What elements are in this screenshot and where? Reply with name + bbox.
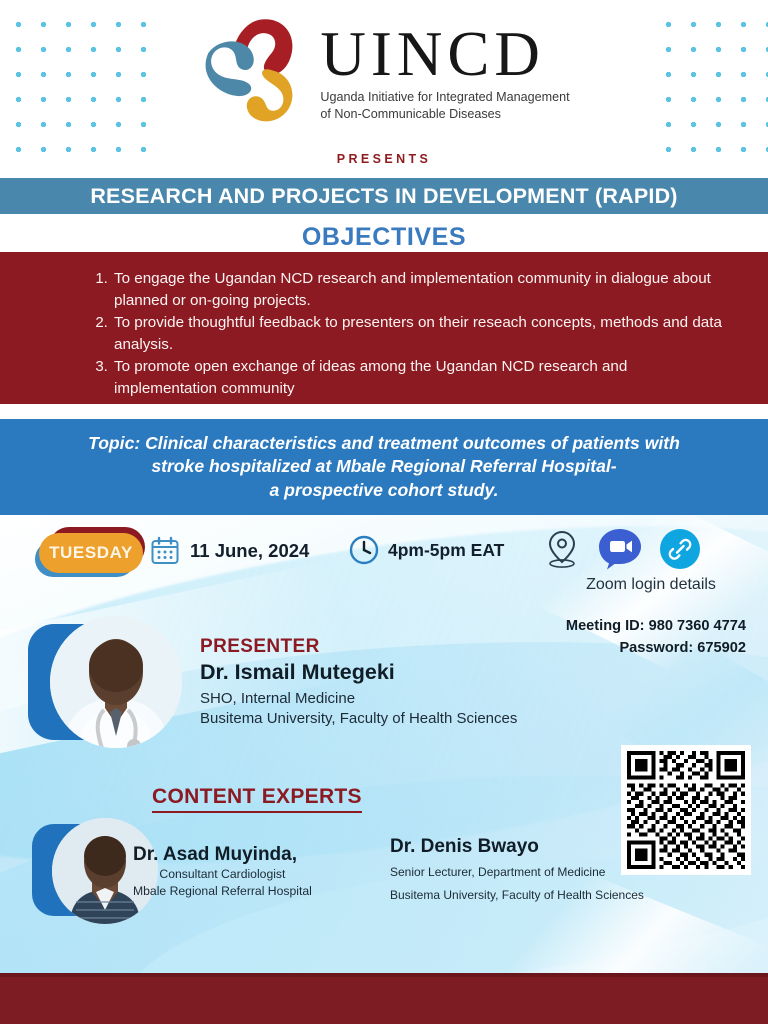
- presenter-section: PRESENTER Dr. Ismail Mutegeki SHO, Inter…: [0, 612, 768, 752]
- topic-line-3: a prospective cohort study.: [269, 480, 498, 500]
- uincd-loops-icon: [198, 14, 316, 126]
- topic-line-1: Topic: Clinical characteristics and trea…: [88, 433, 680, 453]
- footer-bar: [0, 977, 768, 1024]
- calendar-icon: [150, 536, 180, 566]
- content-expert-1: Dr. Asad Muyinda, Consultant Cardiologis…: [0, 818, 400, 928]
- qr-code-graphic: [627, 751, 745, 869]
- objectives-list: To engage the Ugandan NCD research and i…: [0, 252, 768, 399]
- logo-wordmark: UINCD Uganda Initiative for Integrated M…: [320, 24, 569, 123]
- logo-fullname-line2: of Non-Communicable Diseases: [320, 107, 501, 121]
- presenter-portrait: [50, 616, 182, 748]
- event-date: 11 June, 2024: [190, 540, 309, 562]
- objectives-heading: OBJECTIVES: [0, 223, 768, 252]
- expert-1-name: Dr. Asad Muyinda,: [133, 844, 312, 866]
- zoom-login-label: Zoom login details: [540, 576, 768, 594]
- content-experts-heading: CONTENT EXPERTS: [152, 785, 362, 813]
- expert-2-role: Senior Lecturer, Department of Medicine: [390, 864, 644, 881]
- qr-code[interactable]: [621, 745, 751, 875]
- presenter-photo-circle: [50, 616, 182, 748]
- presenter-photo: [28, 616, 178, 748]
- zoom-video-icon: [598, 528, 642, 570]
- presenter-info: PRESENTER Dr. Ismail Mutegeki SHO, Inter…: [200, 636, 517, 730]
- topic-line-2: stroke hospitalized at Mbale Regional Re…: [151, 456, 616, 476]
- presents-label: PRESENTS: [0, 152, 768, 166]
- day-badge-pill: TUESDAY: [39, 533, 143, 573]
- event-title: RESEARCH AND PROJECTS IN DEVELOPMENT (RA…: [90, 184, 677, 209]
- logo-header: UINCD Uganda Initiative for Integrated M…: [0, 14, 768, 164]
- day-badge-label: TUESDAY: [49, 543, 133, 563]
- location-pin-icon: [544, 529, 580, 569]
- poster-canvas: UINCD Uganda Initiative for Integrated M…: [0, 0, 768, 1024]
- link-chain-icon: [660, 529, 700, 569]
- objective-item: To provide thoughtful feedback to presen…: [112, 312, 724, 355]
- event-time: 4pm-5pm EAT: [388, 540, 504, 561]
- event-title-bar: RESEARCH AND PROJECTS IN DEVELOPMENT (RA…: [0, 178, 768, 214]
- uincd-logo: UINCD Uganda Initiative for Integrated M…: [198, 14, 569, 126]
- topic-text: Topic: Clinical characteristics and trea…: [34, 432, 734, 503]
- presenter-role: SHO, Internal Medicine: [200, 689, 517, 709]
- expert-1-org: Mbale Regional Referral Hospital: [133, 883, 312, 900]
- link-glyph: [667, 536, 693, 562]
- presenter-kicker: PRESENTER: [200, 636, 517, 658]
- objective-item: To engage the Ugandan NCD research and i…: [112, 268, 724, 311]
- objectives-panel: To engage the Ugandan NCD research and i…: [0, 252, 768, 404]
- content-expert-2: Dr. Denis Bwayo Senior Lecturer, Departm…: [390, 836, 644, 904]
- clock-icon: [348, 534, 380, 566]
- logo-acronym: UINCD: [320, 24, 569, 84]
- expert-2-name: Dr. Denis Bwayo: [390, 836, 644, 858]
- logo-fullname-line1: Uganda Initiative for Integrated Managem…: [320, 90, 569, 104]
- presenter-name: Dr. Ismail Mutegeki: [200, 660, 517, 685]
- expert-1-role: Consultant Cardiologist: [133, 866, 312, 883]
- objective-item: To promote open exchange of ideas among …: [112, 356, 724, 399]
- zoom-icon-row: [540, 528, 768, 570]
- expert-1-info: Dr. Asad Muyinda, Consultant Cardiologis…: [133, 844, 312, 900]
- logo-fullname: Uganda Initiative for Integrated Managem…: [320, 89, 569, 122]
- topic-panel: Topic: Clinical characteristics and trea…: [0, 419, 768, 515]
- expert-2-org: Busitema University, Faculty of Health S…: [390, 887, 644, 904]
- day-badge: TUESDAY: [35, 531, 145, 575]
- presenter-org: Busitema University, Faculty of Health S…: [200, 709, 517, 729]
